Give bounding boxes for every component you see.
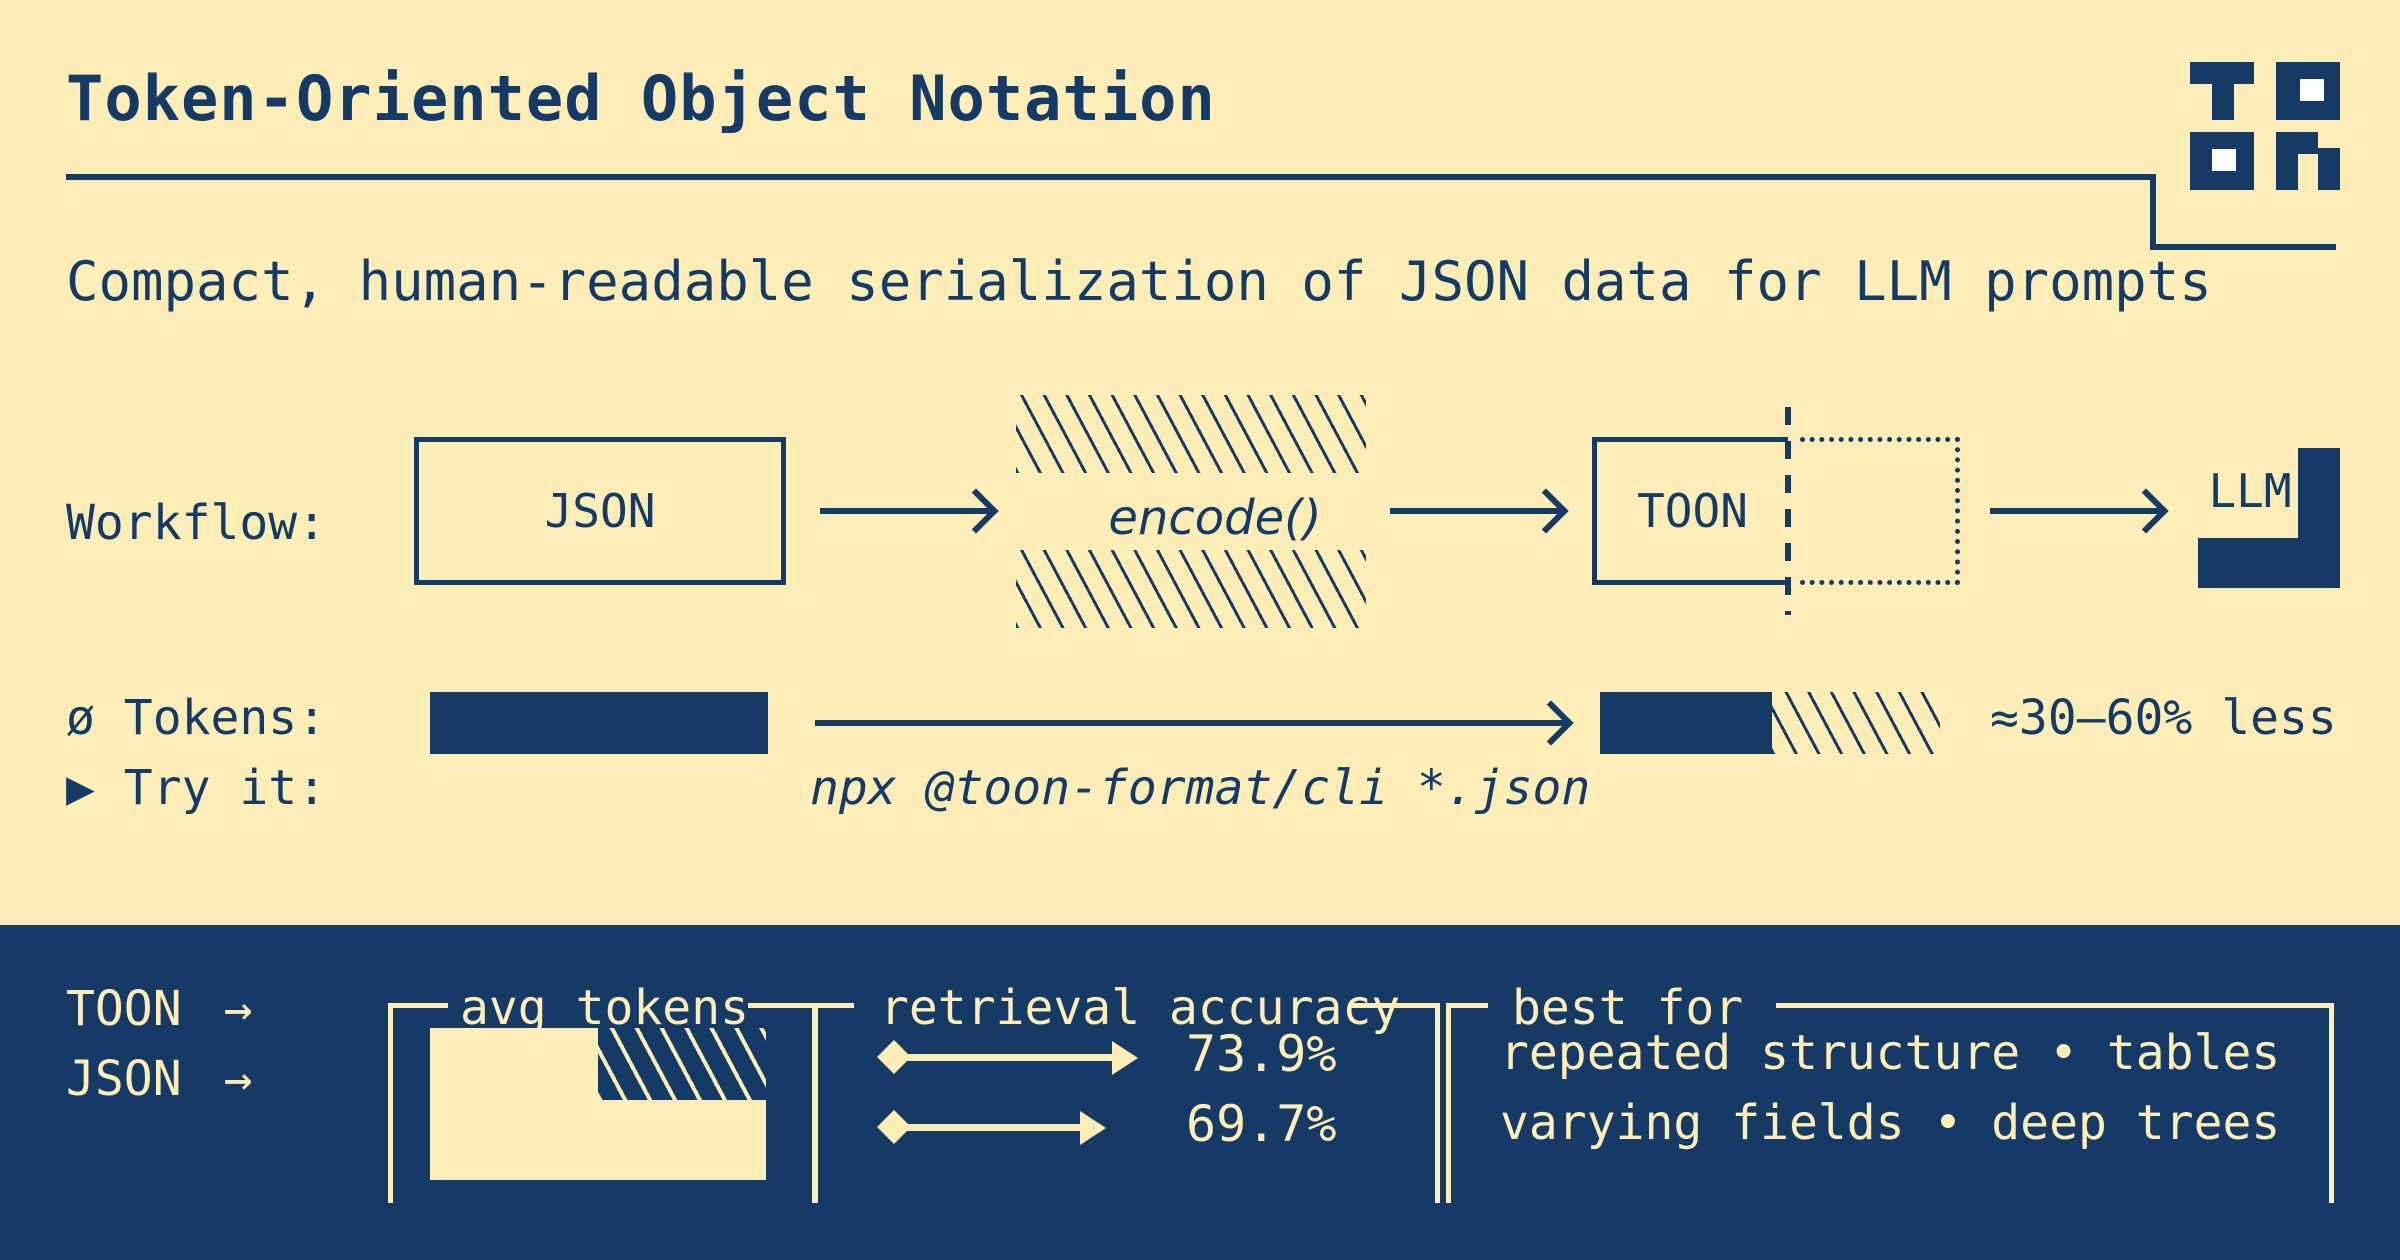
panel-row-label-json: JSON→ bbox=[66, 1051, 253, 1107]
workflow-arrow-3 bbox=[1990, 508, 2160, 514]
panel-bar-toon-hatch bbox=[598, 1028, 766, 1100]
avg-tokens-label: ø Tokens: bbox=[66, 690, 326, 746]
bracket-left-best bbox=[1446, 1003, 1451, 1203]
workflow-label: Workflow: bbox=[66, 495, 326, 551]
workflow-arrow-2 bbox=[1390, 508, 1560, 514]
cli-command[interactable]: npx @toon-format/cli *.json bbox=[810, 760, 1590, 816]
retrieval-arrowhead-toon bbox=[1112, 1041, 1138, 1075]
bracket-top-right-avg bbox=[748, 1003, 818, 1008]
workflow-arrow-1 bbox=[820, 508, 990, 514]
workflow-step-encode[interactable]: encode() bbox=[1055, 490, 1375, 546]
bracket-top-left-ret bbox=[812, 1003, 854, 1008]
logo-glyph-o1-counter bbox=[2300, 79, 2324, 101]
bracket-right-best bbox=[2329, 1003, 2334, 1203]
comparison-panel: TOON→ JSON→ avg tokens retrieval accurac… bbox=[0, 925, 2400, 1260]
retrieval-value-json: 69.7% bbox=[1186, 1095, 1337, 1153]
workflow-step-llm[interactable]: LLM bbox=[2198, 448, 2340, 588]
llm-label: LLM bbox=[2198, 464, 2302, 518]
bracket-top-left-avg bbox=[388, 1003, 448, 1008]
bracket-right-ret bbox=[1435, 1003, 1440, 1203]
retrieval-line-toon bbox=[900, 1054, 1116, 1061]
panel-row-name-toon: TOON bbox=[66, 981, 182, 1037]
panel-row-arrow-json: → bbox=[224, 1051, 253, 1107]
try-it-label: ▶ Try it: bbox=[66, 760, 326, 816]
poster-canvas: Token-Oriented Object Notation Compact, … bbox=[0, 0, 2400, 1260]
panel-row-arrow-toon: → bbox=[224, 981, 253, 1037]
bracket-left-avg bbox=[388, 1003, 393, 1203]
logo-glyph-o2-counter bbox=[2212, 149, 2236, 171]
retrieval-value-toon: 73.9% bbox=[1186, 1025, 1337, 1083]
llm-block-horizontal bbox=[2198, 538, 2340, 588]
page-subtitle: Compact, human-readable serialization of… bbox=[66, 250, 2212, 313]
bracket-left-ret bbox=[812, 1003, 817, 1203]
header-divider-step bbox=[2150, 174, 2156, 250]
page-title: Token-Oriented Object Notation bbox=[66, 62, 1216, 135]
best-for-line-1: repeated structure • tables bbox=[1500, 1025, 2280, 1081]
bracket-top-right-best bbox=[1776, 1003, 2334, 1008]
header-divider-top bbox=[66, 174, 2156, 180]
encode-hatch-bottom bbox=[1016, 550, 1366, 628]
token-comparison-arrow bbox=[815, 720, 1565, 726]
logo-glyph-t-stem bbox=[2212, 62, 2234, 120]
workflow-step-toon[interactable]: TOON bbox=[1592, 437, 1788, 585]
panel-bar-toon-solid bbox=[430, 1028, 598, 1100]
encode-hatch-top bbox=[1016, 395, 1366, 473]
toon-ghost-extension bbox=[1800, 437, 1960, 585]
token-bar-json bbox=[430, 692, 768, 754]
logo-glyph-n-right bbox=[2318, 148, 2340, 190]
retrieval-line-json bbox=[900, 1124, 1084, 1131]
bracket-top-left-best bbox=[1446, 1003, 1488, 1008]
logo-glyph-n-top bbox=[2276, 132, 2318, 154]
token-savings-label: ≈30–60% less bbox=[1990, 690, 2337, 746]
panel-bar-json bbox=[430, 1100, 766, 1180]
toon-split-divider bbox=[1785, 407, 1791, 615]
best-for-line-2: varying fields • deep trees bbox=[1500, 1095, 2280, 1151]
retrieval-arrowhead-json bbox=[1080, 1111, 1106, 1145]
token-bar-toon-solid bbox=[1600, 692, 1772, 754]
panel-row-label-toon: TOON→ bbox=[66, 981, 253, 1037]
token-bar-toon-hatch bbox=[1772, 692, 1940, 754]
workflow-step-json[interactable]: JSON bbox=[414, 437, 786, 585]
panel-row-name-json: JSON bbox=[66, 1051, 182, 1107]
toon-logo bbox=[2190, 62, 2340, 190]
